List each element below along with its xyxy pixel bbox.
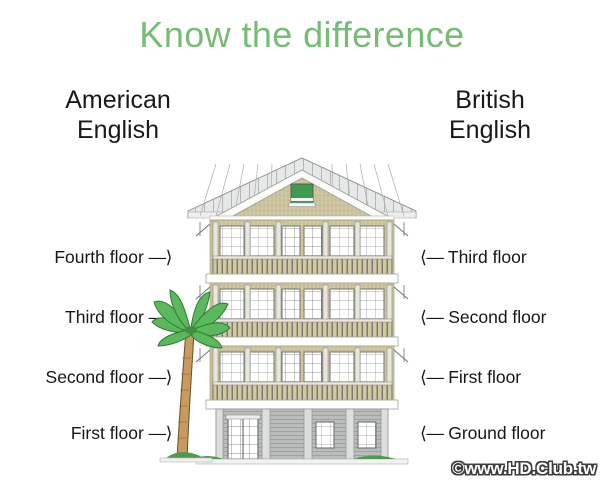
floor-label-american-fourth: Fourth floor —⟩ <box>0 247 172 267</box>
column-heading-american: American English <box>20 85 216 145</box>
column-heading-british: British English <box>392 85 588 145</box>
floor-label-american-first-text: First floor <box>71 423 144 443</box>
palm-trunk <box>177 330 194 460</box>
column-heading-british-line2: English <box>392 115 588 145</box>
floor-label-american-second-text: Second floor <box>46 367 144 387</box>
page-title: Know the difference <box>0 14 604 56</box>
column-heading-american-line1: American <box>20 85 216 115</box>
floor-label-british-first: ⟨— First floor <box>420 367 604 387</box>
watermark: ©www.HD.Club.tw <box>452 459 596 479</box>
floor-label-british-first-text: First floor <box>448 367 521 387</box>
arrow-right-icon: —⟩ <box>149 247 172 267</box>
floor-upper-third <box>196 220 408 283</box>
floor-label-american-third: Third floor —⟩ <box>0 307 172 327</box>
floor-label-american-fourth-text: Fourth floor <box>54 247 143 267</box>
floor-label-british-third-text: Third floor <box>448 247 527 267</box>
floor-label-british-second-text: Second floor <box>448 307 546 327</box>
palm-tree <box>150 288 234 470</box>
floor-label-british-ground: ⟨— Ground floor <box>420 423 604 443</box>
floor-label-british-ground-text: Ground floor <box>448 423 545 443</box>
arrow-left-icon: ⟨— <box>420 307 443 327</box>
arrow-left-icon: ⟨— <box>420 367 443 387</box>
column-heading-british-line1: British <box>392 85 588 115</box>
floor-label-american-second: Second floor —⟩ <box>0 367 172 387</box>
column-heading-american-line2: English <box>20 115 216 145</box>
floor-label-american-first: First floor —⟩ <box>0 423 172 443</box>
floor-label-british-second: ⟨— Second floor <box>420 307 604 327</box>
floor-label-british-third: ⟨— Third floor <box>420 247 604 267</box>
palm-base-grass <box>166 452 204 458</box>
floor-label-american-third-text: Third floor <box>65 307 144 327</box>
infographic-page: Know the difference American English Bri… <box>0 0 604 501</box>
arrow-left-icon: ⟨— <box>420 423 443 443</box>
arrow-left-icon: ⟨— <box>420 247 443 267</box>
